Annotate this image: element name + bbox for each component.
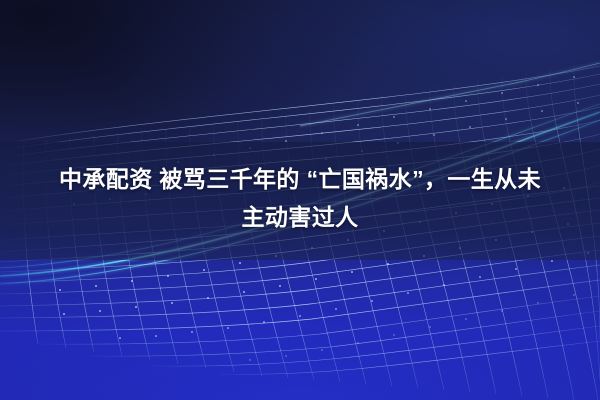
headline-line-2: 主动害过人 — [14, 198, 586, 236]
cover-image-canvas: 中承配资 被骂三千年的 “亡国祸水”，一生从未 主动害过人 — [0, 0, 600, 400]
page-title: 中承配资 被骂三千年的 “亡国祸水”，一生从未 主动害过人 — [0, 160, 600, 236]
headline-line-1: 中承配资 被骂三千年的 “亡国祸水”，一生从未 — [14, 160, 586, 198]
